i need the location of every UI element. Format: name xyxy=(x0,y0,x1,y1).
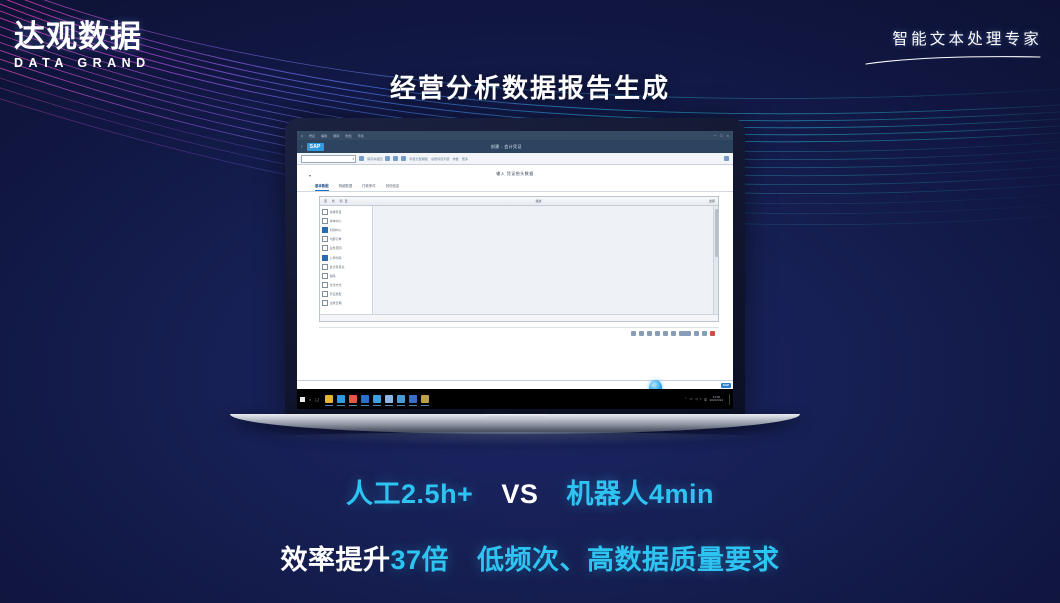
sap-menu-item-0[interactable]: 凭证 xyxy=(309,133,315,138)
brand-logo: 达观数据 DATA GRAND xyxy=(14,20,151,70)
sap-grid-header: 项 状 科目 描述 金额 xyxy=(320,197,718,206)
taskbar-app-sap-client[interactable] xyxy=(397,395,405,403)
sap-menu-icon[interactable]: ≡ xyxy=(301,134,303,138)
taskbar-app-media-player[interactable] xyxy=(373,395,381,403)
back-arrow-icon[interactable]: ‹ xyxy=(301,144,303,150)
clock-date: 2021/3/24 xyxy=(710,398,723,402)
tree-row-label: 成本中心 xyxy=(330,219,342,223)
checkbox-icon[interactable] xyxy=(322,218,328,224)
taskbar-app-settings-gear[interactable] xyxy=(385,395,393,403)
sap-menu-item-2[interactable]: 跳转 xyxy=(333,133,339,138)
sap-grid-canvas[interactable] xyxy=(373,206,718,314)
sap-screen-heading: 输入 凭证抬头数据 xyxy=(297,165,733,181)
export-icon[interactable] xyxy=(694,331,699,336)
page-title: 经营分析数据报告生成 xyxy=(0,68,1060,105)
tree-row[interactable]: 总账科目 xyxy=(320,207,372,216)
insert-icon[interactable] xyxy=(631,331,636,336)
language-icon[interactable]: 中 xyxy=(704,397,707,402)
tab-payment-terms[interactable]: 付款条件 xyxy=(362,183,376,191)
collapse-icon[interactable]: ▾ xyxy=(309,173,311,178)
checkbox-icon[interactable] xyxy=(322,264,328,270)
print-icon[interactable] xyxy=(702,331,707,336)
tab-basic-data[interactable]: 基本数据 xyxy=(315,183,329,191)
tree-row[interactable]: 业务范围 xyxy=(320,244,372,253)
sap-data-panel: 项 状 科目 描述 金额 总账科目 xyxy=(319,196,719,322)
toolbar-button-0[interactable]: 保存并返回 xyxy=(367,156,382,161)
start-button-icon[interactable] xyxy=(300,397,305,402)
loading-spinner-icon xyxy=(649,380,662,389)
help-icon[interactable] xyxy=(724,156,729,161)
laptop-base-glow xyxy=(248,432,782,446)
tree-row[interactable]: 凭证类型 xyxy=(320,290,372,299)
tab-detail-data[interactable]: 明细数据 xyxy=(339,183,353,191)
chevron-up-icon[interactable]: ⌃ xyxy=(684,397,687,401)
toolbar-button-6[interactable]: 更多 xyxy=(462,156,468,161)
laptop-base-notch xyxy=(485,414,547,418)
volume-icon[interactable]: ◁ xyxy=(695,397,698,401)
sap-toolbar: ▾ 保存并返回 科目分配模板 总账科目列表 参数 更多 xyxy=(297,153,733,165)
slide-root: 达观数据 DATA GRAND 智能文本处理专家 经营分析数据报告生成 ≡ 凭证… xyxy=(0,0,1060,603)
search-icon[interactable]: ⌕ xyxy=(309,397,311,402)
tree-row[interactable]: 会计科目表 xyxy=(320,262,372,271)
tree-row[interactable]: 成本中心 xyxy=(320,216,372,225)
sap-tab-strip: 基本数据 明细数据 付款条件 其他信息 xyxy=(297,181,733,192)
sap-title-bar: ‹ SAP 创建 - 会计凭证 xyxy=(297,140,733,153)
taskbar-clock[interactable]: 14:02 2021/3/24 xyxy=(710,396,723,403)
tree-row-label: 凭证类型 xyxy=(330,292,342,296)
taskbar-app-edge-browser[interactable] xyxy=(337,395,345,403)
brand-tagline: 智能文本处理专家 xyxy=(864,27,1042,71)
taskbar-app-document-app[interactable] xyxy=(409,395,417,403)
taskbar-app-folder-app[interactable] xyxy=(421,395,429,403)
laptop-lid: ≡ 凭证 编辑 跳转 附加 环境 − □ × xyxy=(285,118,745,416)
taskbar-app-outlook-mail[interactable] xyxy=(361,395,369,403)
tree-row-label: 过账日期 xyxy=(330,301,342,305)
toolbar-button-3[interactable]: 科目分配模板 xyxy=(409,156,428,161)
minimize-icon[interactable]: − xyxy=(714,134,716,138)
check-icon[interactable] xyxy=(385,156,390,161)
tree-row-label: 会计科目表 xyxy=(330,265,345,269)
grid-header-col-0: 项 状 科目 xyxy=(320,199,376,203)
show-desktop-button[interactable] xyxy=(729,394,731,405)
checkbox-icon[interactable] xyxy=(322,300,328,306)
tree-row-label: 业务范围 xyxy=(330,246,342,250)
tree-row[interactable]: 过账日期 xyxy=(320,299,372,308)
brand-logo-cn: 达观数据 xyxy=(14,20,151,53)
grid-header-col-2: 金额 xyxy=(701,199,718,203)
sap-grid-body: 总账科目 成本中心 利润中心 xyxy=(320,206,718,314)
delete-icon[interactable] xyxy=(710,331,715,336)
total-icon[interactable] xyxy=(671,331,676,336)
checkbox-icon[interactable] xyxy=(322,236,328,242)
checkbox-icon[interactable] xyxy=(322,273,328,279)
sap-window-controls: − □ × xyxy=(714,134,729,138)
tree-row-label: 利润中心 xyxy=(330,228,342,232)
toolbar-button-5[interactable]: 参数 xyxy=(453,156,459,161)
sap-content-area: ▾ 输入 凭证抬头数据 基本数据 明细数据 付款条件 其他信息 项 状 科目 描… xyxy=(297,165,733,389)
sap-menu-item-1[interactable]: 编辑 xyxy=(321,133,327,138)
status-badge: SAP xyxy=(721,383,731,388)
checkbox-icon[interactable] xyxy=(322,282,328,288)
stat-efficiency-value: 37倍 xyxy=(390,545,449,575)
subtotal-icon[interactable] xyxy=(679,331,691,336)
tree-row[interactable]: 付款方式 xyxy=(320,281,372,290)
network-icon[interactable]: ▭ xyxy=(690,397,693,401)
stat-robot-time: 机器人4min xyxy=(566,479,714,509)
grid-header-col-1: 描述 xyxy=(376,199,701,203)
refresh-icon[interactable] xyxy=(401,156,406,161)
tree-row[interactable]: 利润中心 xyxy=(320,225,372,234)
filter-icon[interactable] xyxy=(663,331,668,336)
tab-other-info[interactable]: 其他信息 xyxy=(386,183,400,191)
save-icon[interactable] xyxy=(359,156,364,161)
copy-icon[interactable] xyxy=(639,331,644,336)
checkbox-icon[interactable] xyxy=(322,227,328,233)
taskbar-system-tray: ⌃ ▭ ◁ ▪ 中 14:02 2021/3/24 xyxy=(684,394,730,405)
windows-taskbar: ⌕ ❏ ⌃ xyxy=(297,389,733,409)
stat-traits: 低频次、高数据质量要求 xyxy=(477,545,780,575)
stat-vs-label: VS xyxy=(501,479,538,509)
laptop-base xyxy=(230,414,800,440)
battery-icon[interactable]: ▪ xyxy=(700,397,701,401)
taskbar-app-file-explorer[interactable] xyxy=(325,395,333,403)
taskbar-app-chrome-browser[interactable] xyxy=(349,395,357,403)
stat-manual-time: 人工2.5h+ xyxy=(346,479,473,509)
checkbox-icon[interactable] xyxy=(322,291,328,297)
sap-logo: SAP xyxy=(307,143,324,151)
taskbar-pinned-apps xyxy=(325,395,429,403)
checkbox-icon[interactable] xyxy=(322,245,328,251)
tree-row[interactable]: 税码 xyxy=(320,271,372,280)
maximize-icon[interactable]: □ xyxy=(720,134,722,138)
task-view-icon[interactable]: ❏ xyxy=(315,397,318,402)
scrollbar-thumb[interactable] xyxy=(715,209,718,257)
tree-row[interactable]: 公司代码 xyxy=(320,253,372,262)
checkbox-icon[interactable] xyxy=(322,209,328,215)
tree-row-label: 付款方式 xyxy=(330,283,342,287)
grid-vertical-scrollbar[interactable] xyxy=(713,206,718,314)
tree-row-label: 总账科目 xyxy=(330,210,342,214)
paste-icon[interactable] xyxy=(647,331,652,336)
sap-command-field[interactable]: ▾ xyxy=(301,155,356,163)
sap-application-window: ≡ 凭证 编辑 跳转 附加 环境 − □ × xyxy=(297,131,733,389)
sap-menu-item-4[interactable]: 环境 xyxy=(358,133,364,138)
sap-status-bar: SAP xyxy=(297,380,733,389)
tree-row-label: 公司代码 xyxy=(330,256,342,260)
tree-row-label: 内部订单 xyxy=(330,237,342,241)
sap-panel-footer xyxy=(320,314,718,321)
laptop-base-slab xyxy=(230,414,800,434)
sap-menu-bar: ≡ 凭证 编辑 跳转 附加 环境 − □ × xyxy=(297,131,733,140)
brand-tagline-text: 智能文本处理专家 xyxy=(864,27,1042,49)
sap-field-tree: 总账科目 成本中心 利润中心 xyxy=(320,206,373,314)
stat-efficiency-prefix: 效率提升 xyxy=(280,545,390,575)
checkbox-icon[interactable] xyxy=(322,255,328,261)
toolbar-button-4[interactable]: 总账科目列表 xyxy=(431,156,450,161)
tree-row-label: 税码 xyxy=(330,274,336,278)
tagline-underline-swoosh xyxy=(864,56,1042,66)
stat-comparison-line: 人工2.5h+ VS 机器人4min xyxy=(0,472,1060,511)
laptop-mockup: ≡ 凭证 编辑 跳转 附加 环境 − □ × xyxy=(230,118,800,448)
sap-window-title: 创建 - 会计凭证 xyxy=(328,144,685,150)
tree-row[interactable]: 内部订单 xyxy=(320,235,372,244)
close-icon[interactable]: × xyxy=(727,134,729,138)
sap-menu-item-3[interactable]: 附加 xyxy=(345,133,351,138)
sap-bottom-toolbar xyxy=(319,327,719,338)
sort-icon[interactable] xyxy=(655,331,660,336)
simulate-icon[interactable] xyxy=(393,156,398,161)
stat-efficiency-line: 效率提升37倍 低频次、高数据质量要求 xyxy=(0,538,1060,577)
laptop-screen: ≡ 凭证 编辑 跳转 附加 环境 − □ × xyxy=(297,131,733,409)
